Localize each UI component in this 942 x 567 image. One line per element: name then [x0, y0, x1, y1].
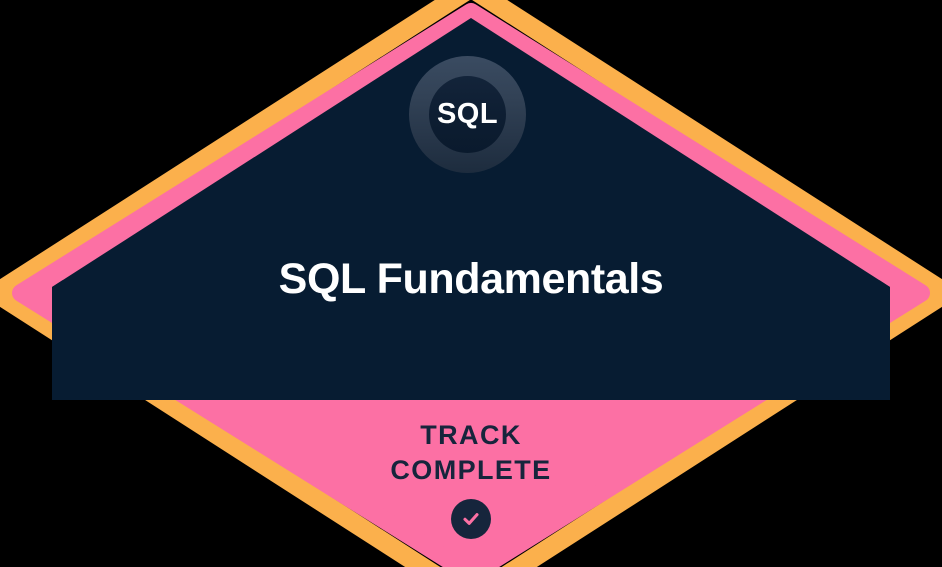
badge-diamond-graphic	[0, 0, 942, 567]
track-completion-badge: SQL SQL Fundamentals TRACK COMPLETE	[0, 0, 942, 567]
